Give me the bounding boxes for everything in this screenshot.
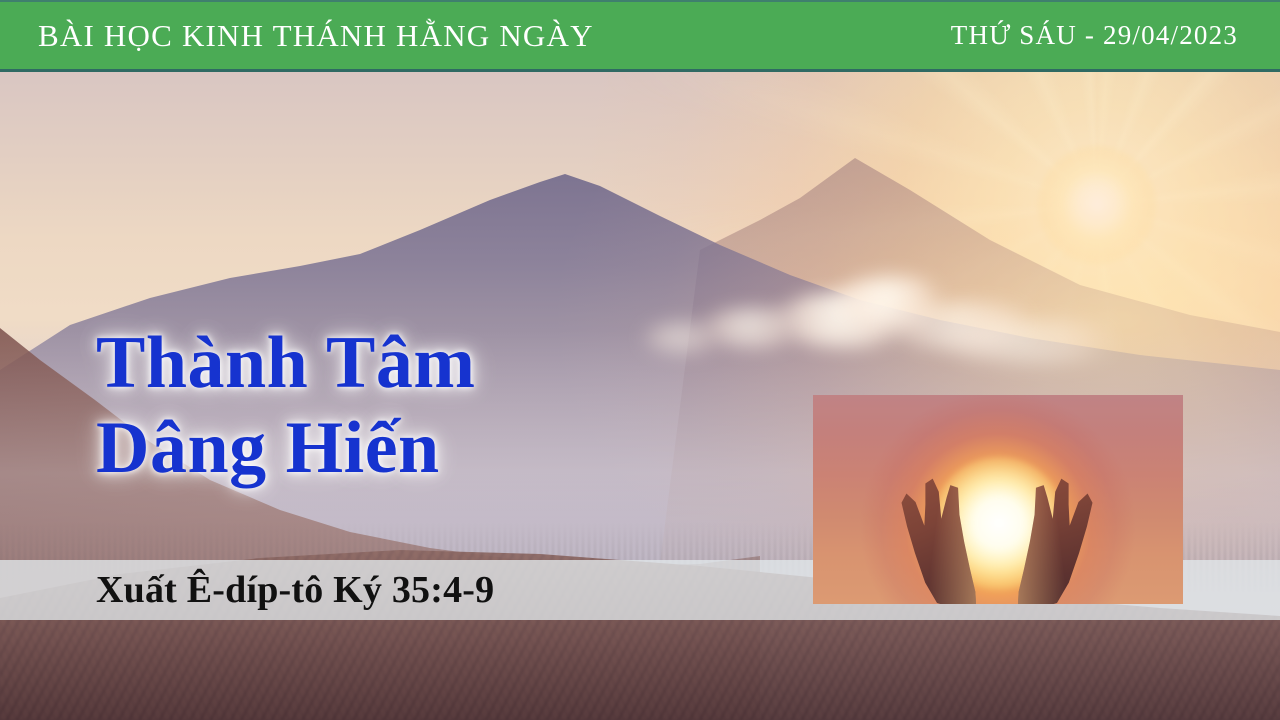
- header-title: BÀI HỌC KINH THÁNH HẰNG NGÀY: [38, 18, 594, 54]
- header-date: THỨ SÁU - 29/04/2023: [951, 20, 1238, 51]
- inset-photo-hands-holding-sun: [813, 395, 1183, 604]
- bible-lesson-slide: BÀI HỌC KINH THÁNH HẰNG NGÀY THỨ SÁU - 2…: [0, 0, 1280, 720]
- scripture-reference: Xuất Ê-díp-tô Ký 35:4-9: [96, 568, 494, 612]
- header-bar: BÀI HỌC KINH THÁNH HẰNG NGÀY THỨ SÁU - 2…: [0, 0, 1280, 72]
- lesson-title: Thành Tâm Dâng Hiến: [96, 327, 476, 484]
- lesson-title-line-1: Thành Tâm: [96, 327, 476, 400]
- lesson-title-line-2: Dâng Hiến: [96, 412, 476, 485]
